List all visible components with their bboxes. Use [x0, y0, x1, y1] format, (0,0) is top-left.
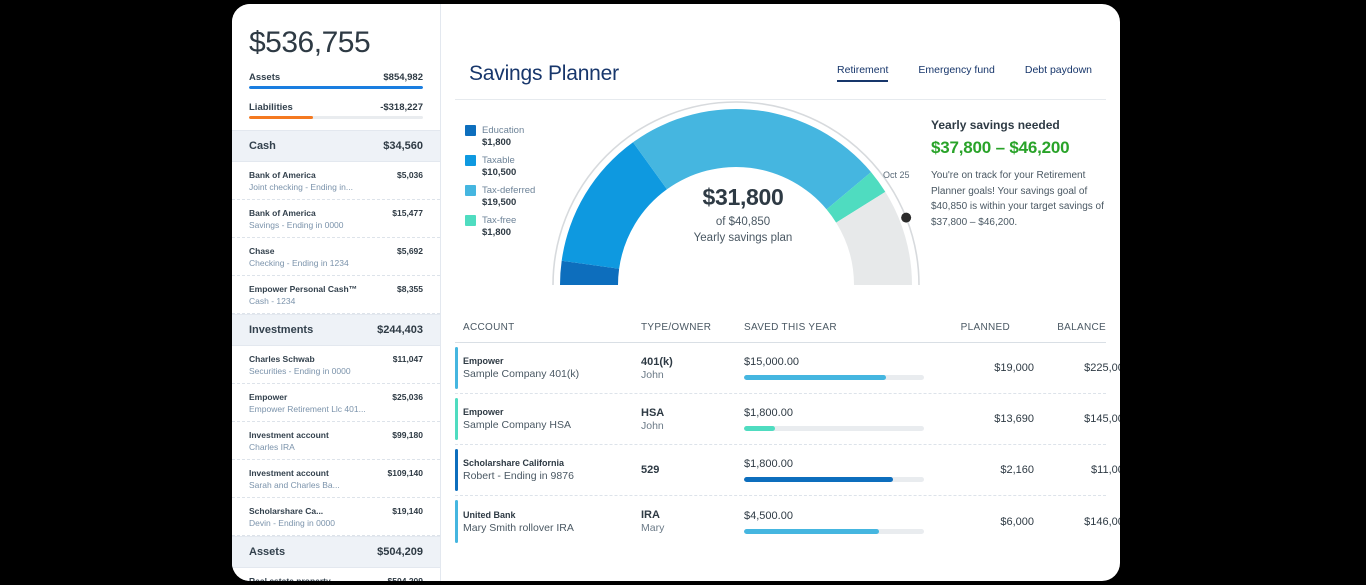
- row-account-subtitle: Robert - Ending in 9876: [463, 470, 641, 482]
- account-value: $15,477: [392, 208, 423, 218]
- gauge-goal-value: of $40,850: [543, 215, 943, 231]
- account-name: Empower: [249, 392, 287, 402]
- section-header-assets[interactable]: Assets$504,209: [232, 536, 440, 568]
- row-account-owner: John: [641, 369, 744, 381]
- savings-needed-panel: Yearly savings needed $37,800 – $46,200 …: [931, 118, 1106, 230]
- section-header-cash[interactable]: Cash$34,560: [232, 130, 440, 162]
- account-sections: Cash$34,560Bank of America$5,036Joint ch…: [232, 130, 440, 581]
- row-balance-amount: $145,000: [1034, 413, 1120, 425]
- row-accent-bar: [455, 347, 458, 389]
- legend-swatch-icon: [465, 215, 476, 226]
- liabilities-progress-fill: [249, 116, 313, 119]
- column-header-balance: BALANCE: [1010, 322, 1106, 333]
- row-account-type: IRA: [641, 509, 744, 521]
- row-account-subtitle: Sample Company 401(k): [463, 368, 641, 380]
- account-value: $5,692: [397, 246, 423, 256]
- row-accent-bar: [455, 500, 458, 543]
- legend-swatch-icon: [465, 155, 476, 166]
- row-account-subtitle: Sample Company HSA: [463, 419, 641, 431]
- row-accent-bar: [455, 449, 458, 491]
- row-progress-track: [744, 477, 924, 482]
- row-account-owner: Mary: [641, 522, 744, 534]
- legend-swatch-icon: [465, 125, 476, 136]
- account-name: Empower Personal Cash™: [249, 284, 357, 294]
- sidebar-account-item[interactable]: Real estate property$504,2091110 Main St…: [232, 568, 440, 581]
- savings-needed-description: You're on track for your Retirement Plan…: [931, 168, 1106, 230]
- savings-gauge: $31,800 of $40,850 Yearly savings plan O…: [543, 92, 943, 302]
- account-name: Charles Schwab: [249, 354, 315, 364]
- savings-needed-title: Yearly savings needed: [931, 118, 1106, 132]
- assets-progress-track: [249, 86, 423, 89]
- section-total: $244,403: [377, 324, 423, 336]
- main-panel: Savings Planner RetirementEmergency fund…: [441, 4, 1120, 581]
- section-title: Assets: [249, 546, 285, 558]
- row-saved-amount: $4,500.00: [744, 510, 924, 522]
- table-row[interactable]: EmpowerSample Company 401(k)401(k)John$1…: [455, 343, 1106, 394]
- savings-planner-card: $536,755 Assets $854,982 Liabilities -$3…: [232, 4, 1120, 581]
- gauge-current-value: $31,800: [543, 184, 943, 211]
- account-subtitle: Securities - Ending in 0000: [249, 366, 423, 376]
- account-name: Investment account: [249, 468, 329, 478]
- row-account-type: 529: [641, 464, 744, 476]
- row-saved-amount: $1,800.00: [744, 407, 924, 419]
- gauge-caption: Yearly savings plan: [543, 231, 943, 247]
- page-header: Savings Planner RetirementEmergency fund…: [455, 4, 1106, 100]
- sidebar-account-item[interactable]: Bank of America$15,477Savings - Ending i…: [232, 200, 440, 238]
- row-progress-fill: [744, 375, 886, 380]
- sidebar-account-item[interactable]: Investment account$109,140Sarah and Char…: [232, 460, 440, 498]
- row-saved-amount: $1,800.00: [744, 458, 924, 470]
- assets-summary[interactable]: Assets $854,982: [249, 72, 423, 89]
- sidebar-account-item[interactable]: Empower$25,036Empower Retirement Llc 401…: [232, 384, 440, 422]
- row-planned-amount: $6,000: [924, 516, 1034, 528]
- account-value: $504,209: [388, 576, 423, 581]
- row-balance-amount: $225,000: [1034, 362, 1120, 374]
- row-account-name: Empower: [463, 356, 641, 366]
- account-name: Bank of America: [249, 208, 316, 218]
- table-header-row: ACCOUNT TYPE/OWNER SAVED THIS YEAR PLANN…: [455, 322, 1106, 343]
- assets-value: $854,982: [383, 72, 423, 83]
- row-account-owner: John: [641, 420, 744, 432]
- account-subtitle: Savings - Ending in 0000: [249, 220, 423, 230]
- row-planned-amount: $2,160: [924, 464, 1034, 476]
- table-row[interactable]: Scholarshare CaliforniaRobert - Ending i…: [455, 445, 1106, 496]
- column-header-saved: SAVED THIS YEAR: [744, 322, 900, 333]
- account-value: $11,047: [393, 354, 423, 364]
- row-accent-bar: [455, 398, 458, 440]
- row-planned-amount: $19,000: [924, 362, 1034, 374]
- sidebar-account-item[interactable]: Investment account$99,180Charles IRA: [232, 422, 440, 460]
- table-row[interactable]: EmpowerSample Company HSAHSAJohn$1,800.0…: [455, 394, 1106, 445]
- table-row[interactable]: United BankMary Smith rollover IRAIRAMar…: [455, 496, 1106, 547]
- sidebar-account-item[interactable]: Scholarshare Ca...$19,140Devin - Ending …: [232, 498, 440, 536]
- account-value: $8,355: [397, 284, 423, 294]
- account-subtitle: Joint checking - Ending in...: [249, 182, 423, 192]
- net-worth-amount: $536,755: [249, 26, 423, 59]
- row-planned-amount: $13,690: [924, 413, 1034, 425]
- column-header-planned: PLANNED: [900, 322, 1010, 333]
- assets-progress-fill: [249, 86, 423, 89]
- accounts-table: ACCOUNT TYPE/OWNER SAVED THIS YEAR PLANN…: [455, 322, 1106, 547]
- account-name: Chase: [249, 246, 275, 256]
- row-progress-track: [744, 529, 924, 534]
- savings-gauge-block: Education$1,800Taxable$10,500Tax-deferre…: [455, 100, 1106, 315]
- row-account-subtitle: Mary Smith rollover IRA: [463, 522, 641, 534]
- sidebar-account-item[interactable]: Charles Schwab$11,047Securities - Ending…: [232, 346, 440, 384]
- legend-label: Education: [482, 125, 524, 136]
- tab-retirement[interactable]: Retirement: [837, 64, 888, 82]
- account-subtitle: Cash - 1234: [249, 296, 423, 306]
- gauge-date-marker-label: Oct 25: [883, 170, 910, 180]
- liabilities-label: Liabilities: [249, 102, 293, 113]
- table-body: EmpowerSample Company 401(k)401(k)John$1…: [455, 343, 1106, 547]
- column-header-type: TYPE/OWNER: [641, 322, 744, 333]
- account-subtitle: Checking - Ending in 1234: [249, 258, 423, 268]
- sidebar-spacer: [232, 123, 440, 130]
- section-total: $34,560: [383, 140, 423, 152]
- savings-needed-range: $37,800 – $46,200: [931, 138, 1106, 158]
- net-worth-summary: $536,755 Assets $854,982 Liabilities -$3…: [232, 4, 440, 123]
- legend-label: Tax-deferred: [482, 185, 535, 196]
- page-title: Savings Planner: [469, 62, 619, 86]
- account-value: $109,140: [388, 468, 423, 478]
- tab-debt-paydown[interactable]: Debt paydown: [1025, 64, 1092, 82]
- sidebar-account-item[interactable]: Bank of America$5,036Joint checking - En…: [232, 162, 440, 200]
- row-account-name: United Bank: [463, 510, 641, 520]
- legend-label: Tax-free: [482, 215, 516, 226]
- row-progress-fill: [744, 529, 879, 534]
- account-value: $99,180: [392, 430, 423, 440]
- section-total: $504,209: [377, 546, 423, 558]
- row-account-name: Scholarshare California: [463, 458, 641, 468]
- account-subtitle: Sarah and Charles Ba...: [249, 480, 423, 490]
- row-progress-fill: [744, 426, 775, 431]
- gauge-center-labels: $31,800 of $40,850 Yearly savings plan: [543, 184, 943, 246]
- row-account-type: HSA: [641, 407, 744, 419]
- account-name: Bank of America: [249, 170, 316, 180]
- account-subtitle: Devin - Ending in 0000: [249, 518, 423, 528]
- liabilities-progress-track: [249, 116, 423, 119]
- liabilities-value: -$318,227: [380, 102, 423, 113]
- section-title: Investments: [249, 324, 313, 336]
- planner-tabs: RetirementEmergency fundDebt paydown: [837, 64, 1092, 84]
- row-balance-amount: $11,000: [1034, 464, 1120, 476]
- sidebar-account-item[interactable]: Chase$5,692Checking - Ending in 1234: [232, 238, 440, 276]
- account-value: $19,140: [392, 506, 423, 516]
- sidebar-account-item[interactable]: Empower Personal Cash™$8,355Cash - 1234: [232, 276, 440, 314]
- row-account-type: 401(k): [641, 356, 744, 368]
- row-account-name: Empower: [463, 407, 641, 417]
- row-balance-amount: $146,000: [1034, 516, 1120, 528]
- account-name: Real estate property: [249, 576, 331, 581]
- account-value: $25,036: [392, 392, 423, 402]
- account-name: Investment account: [249, 430, 329, 440]
- assets-label: Assets: [249, 72, 280, 83]
- account-name: Scholarshare Ca...: [249, 506, 323, 516]
- row-progress-track: [744, 426, 924, 431]
- account-subtitle: Empower Retirement Llc 401...: [249, 404, 423, 414]
- row-progress-track: [744, 375, 924, 380]
- tab-emergency-fund[interactable]: Emergency fund: [918, 64, 994, 82]
- row-progress-fill: [744, 477, 893, 482]
- column-header-account: ACCOUNT: [455, 322, 641, 333]
- account-value: $5,036: [397, 170, 423, 180]
- accounts-sidebar: $536,755 Assets $854,982 Liabilities -$3…: [232, 4, 441, 581]
- section-header-investments[interactable]: Investments$244,403: [232, 314, 440, 346]
- row-saved-amount: $15,000.00: [744, 356, 924, 368]
- account-subtitle: Charles IRA: [249, 442, 423, 452]
- legend-swatch-icon: [465, 185, 476, 196]
- liabilities-summary[interactable]: Liabilities -$318,227: [249, 102, 423, 119]
- section-title: Cash: [249, 140, 276, 152]
- legend-label: Taxable: [482, 155, 515, 166]
